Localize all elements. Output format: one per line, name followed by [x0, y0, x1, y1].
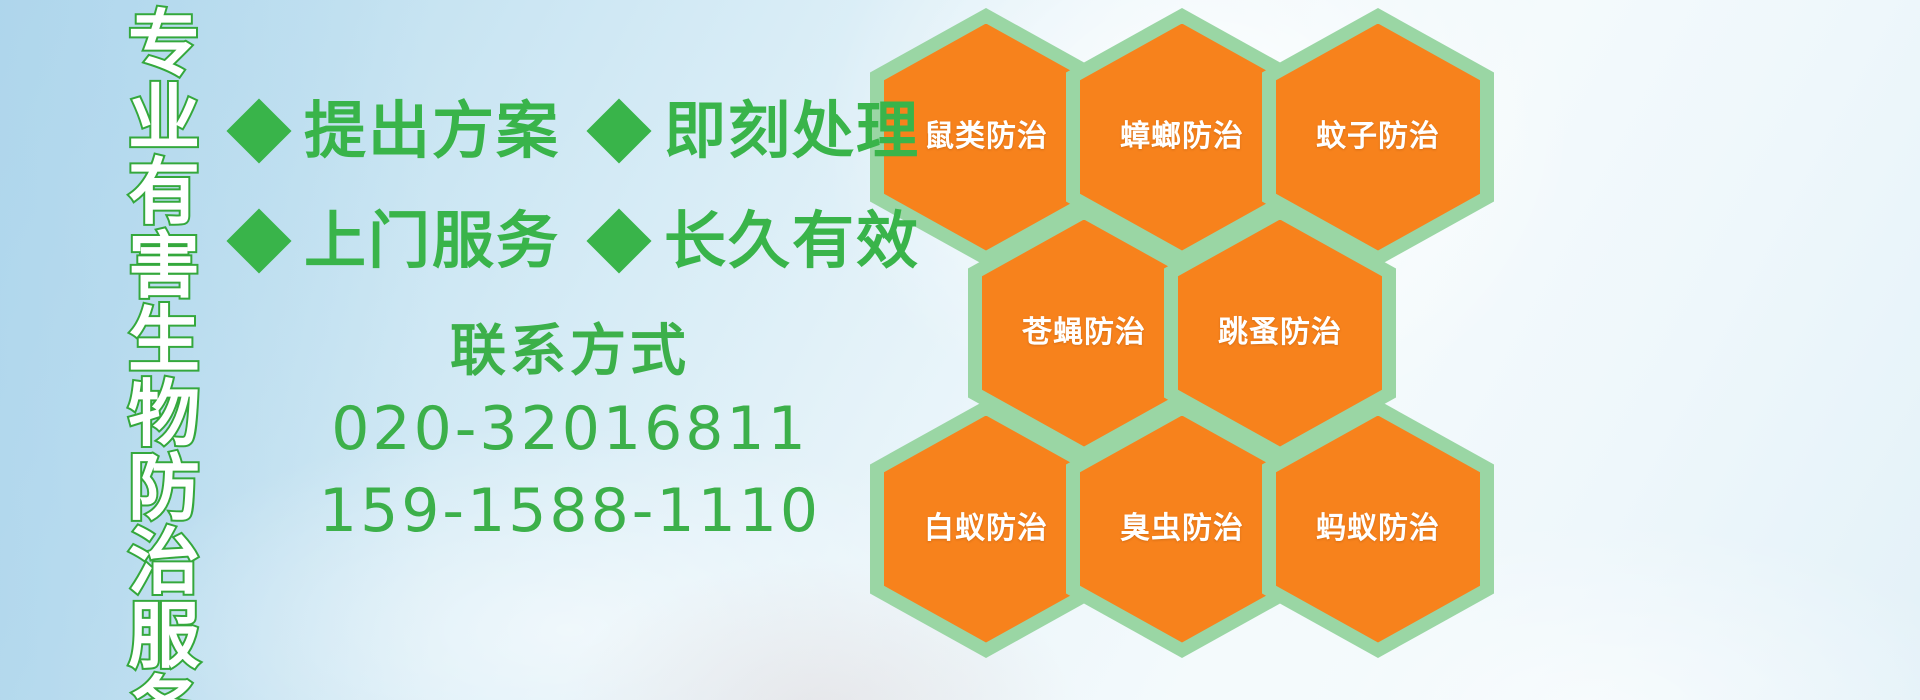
- vertical-slogan-char: 治: [128, 526, 200, 598]
- service-label: 苍蝇防治: [1022, 318, 1146, 348]
- feature-label: 上门服务: [304, 210, 560, 272]
- service-label: 臭虫防治: [1120, 514, 1244, 544]
- service-label: 蚊子防治: [1316, 122, 1440, 152]
- hexagon-inner: 白蚁防治: [884, 416, 1088, 643]
- vertical-slogan-char: 物: [128, 378, 200, 450]
- hexagon-inner: 苍蝇防治: [982, 220, 1186, 447]
- vertical-slogan-char: 有: [128, 156, 200, 228]
- vertical-slogan-char: 防: [128, 452, 200, 524]
- feature-row: 上门服务 长久有效: [236, 186, 920, 296]
- service-label: 白蚁防治: [924, 514, 1048, 544]
- hexagon-inner: 蟑螂防治: [1080, 24, 1284, 251]
- vertical-slogan-char: 专: [128, 8, 200, 80]
- diamond-icon: [226, 98, 291, 163]
- hexagon-inner: 蚂蚁防治: [1276, 416, 1480, 643]
- hexagon-inner: 跳蚤防治: [1178, 220, 1382, 447]
- diamond-icon: [226, 208, 291, 273]
- service-label: 蟑螂防治: [1120, 122, 1244, 152]
- feature-item: 长久有效: [596, 210, 920, 272]
- vertical-slogan-char: 务: [128, 674, 200, 700]
- service-label: 蚂蚁防治: [1316, 514, 1440, 544]
- diamond-icon: [586, 98, 651, 163]
- feature-label: 即刻处理: [664, 100, 920, 162]
- feature-list: 提出方案 即刻处理 上门服务 长久有效: [236, 76, 920, 296]
- contact-title: 联系方式: [300, 316, 840, 388]
- vertical-slogan-char: 业: [128, 82, 200, 154]
- vertical-slogan: 专 业 有 害 生 物 防 治 服 务: [108, 8, 220, 668]
- service-label: 跳蚤防治: [1218, 318, 1342, 348]
- vertical-slogan-char: 生: [128, 304, 200, 376]
- feature-label: 提出方案: [304, 100, 560, 162]
- vertical-slogan-char: 害: [128, 230, 200, 302]
- hexagon-inner: 蚊子防治: [1276, 24, 1480, 251]
- service-label: 鼠类防治: [924, 122, 1048, 152]
- service-honeycomb: 鼠类防治 蟑螂防治 蚊子防治 苍蝇防治 跳蚤防治 白蚁防治: [862, 0, 1920, 700]
- contact-phone-mobile[interactable]: 159-1588-1110: [300, 470, 840, 552]
- feature-label: 长久有效: [664, 210, 920, 272]
- feature-item: 上门服务: [236, 210, 560, 272]
- pest-control-banner: 专 业 有 害 生 物 防 治 服 务 提出方案 即刻处理 上门服务: [0, 0, 1920, 700]
- vertical-slogan-char: 服: [128, 600, 200, 672]
- feature-row: 提出方案 即刻处理: [236, 76, 920, 186]
- contact-block: 联系方式 020-32016811 159-1588-1110: [300, 316, 840, 552]
- feature-item: 提出方案: [236, 100, 560, 162]
- hexagon-inner: 臭虫防治: [1080, 416, 1284, 643]
- feature-item: 即刻处理: [596, 100, 920, 162]
- diamond-icon: [586, 208, 651, 273]
- contact-phone-landline[interactable]: 020-32016811: [300, 388, 840, 470]
